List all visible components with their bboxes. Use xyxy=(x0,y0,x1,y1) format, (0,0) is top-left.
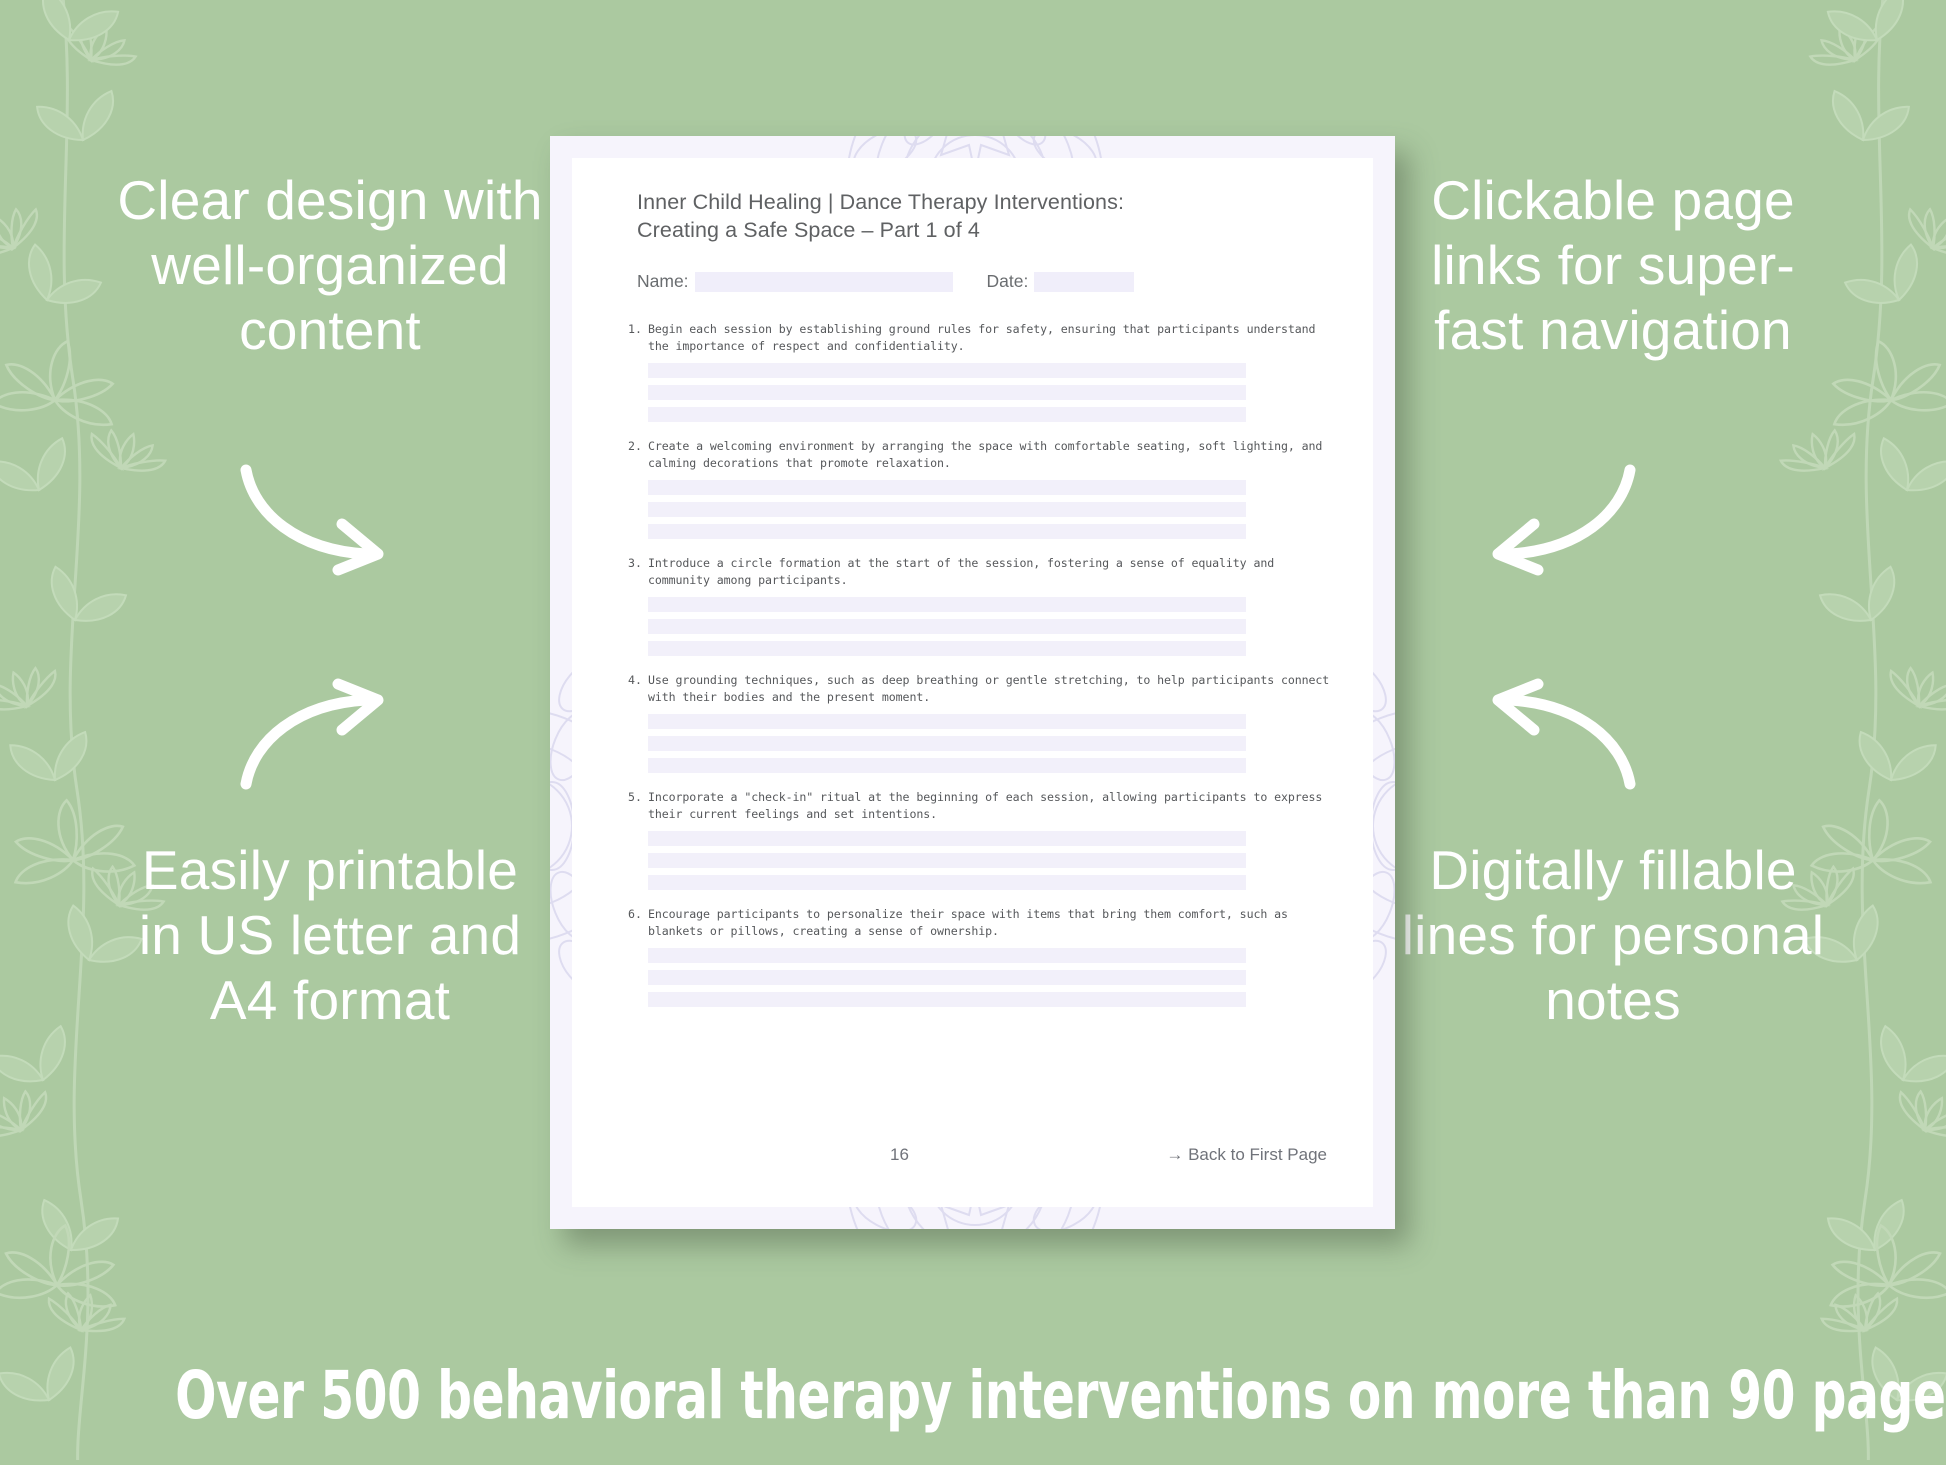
intervention-text: Encourage participants to personalize th… xyxy=(648,906,1332,940)
promo-text-top-right: Clickable page links for super-fast navi… xyxy=(1398,168,1828,363)
promo-text-top-left: Clear design with well-organized content xyxy=(115,168,545,363)
intervention-text: Introduce a circle formation at the star… xyxy=(648,555,1332,589)
fillable-line[interactable] xyxy=(648,875,1246,890)
fillable-line[interactable] xyxy=(648,970,1246,985)
fillable-lines-group xyxy=(648,714,1246,773)
fillable-line[interactable] xyxy=(648,480,1246,495)
fillable-line[interactable] xyxy=(648,736,1246,751)
page-title-line-1: Inner Child Healing | Dance Therapy Inte… xyxy=(637,188,1337,216)
worksheet-content-area: Inner Child Healing | Dance Therapy Inte… xyxy=(572,158,1373,1207)
page-title: Inner Child Healing | Dance Therapy Inte… xyxy=(637,188,1337,245)
name-input[interactable] xyxy=(695,272,953,292)
date-label: Date: xyxy=(987,271,1029,292)
intervention-row: 2.Create a welcoming environment by arra… xyxy=(620,438,1332,472)
intervention-item: 2.Create a welcoming environment by arra… xyxy=(620,438,1332,539)
intervention-number: 2. xyxy=(620,438,648,455)
fillable-line[interactable] xyxy=(648,502,1246,517)
fillable-line[interactable] xyxy=(648,948,1246,963)
fillable-line[interactable] xyxy=(648,524,1246,539)
fillable-line[interactable] xyxy=(648,758,1246,773)
intervention-row: 6.Encourage participants to personalize … xyxy=(620,906,1332,940)
page-number: 16 xyxy=(890,1145,909,1165)
intervention-list: 1.Begin each session by establishing gro… xyxy=(620,321,1332,1024)
fillable-line[interactable] xyxy=(648,363,1246,378)
intervention-number: 4. xyxy=(620,672,648,689)
fillable-line[interactable] xyxy=(648,385,1246,400)
name-label: Name: xyxy=(637,271,689,292)
fillable-lines-group xyxy=(648,597,1246,656)
fillable-line[interactable] xyxy=(648,641,1246,656)
promo-text-bottom-right: Digitally fillable lines for personal no… xyxy=(1398,838,1828,1033)
intervention-row: 3.Introduce a circle formation at the st… xyxy=(620,555,1332,589)
fillable-lines-group xyxy=(648,948,1246,1007)
name-date-row: Name: Date: xyxy=(637,271,1134,292)
fillable-line[interactable] xyxy=(648,597,1246,612)
curved-arrow-icon-top-left xyxy=(238,462,408,587)
intervention-item: 3.Introduce a circle formation at the st… xyxy=(620,555,1332,656)
intervention-number: 1. xyxy=(620,321,648,338)
intervention-number: 6. xyxy=(620,906,648,923)
intervention-row: 5.Incorporate a "check-in" ritual at the… xyxy=(620,789,1332,823)
intervention-item: 1.Begin each session by establishing gro… xyxy=(620,321,1332,422)
fillable-lines-group xyxy=(648,363,1246,422)
intervention-row: 1.Begin each session by establishing gro… xyxy=(620,321,1332,355)
fillable-line[interactable] xyxy=(648,992,1246,1007)
date-input[interactable] xyxy=(1034,272,1134,292)
intervention-item: 5.Incorporate a "check-in" ritual at the… xyxy=(620,789,1332,890)
fillable-line[interactable] xyxy=(648,831,1246,846)
back-to-first-page-link[interactable]: → Back to First Page xyxy=(1166,1145,1327,1165)
intervention-text: Incorporate a "check-in" ritual at the b… xyxy=(648,789,1332,823)
page-title-line-2: Creating a Safe Space – Part 1 of 4 xyxy=(637,216,1337,244)
curved-arrow-icon-bottom-left xyxy=(238,672,408,797)
curved-arrow-icon-bottom-right xyxy=(1468,672,1638,797)
fillable-line[interactable] xyxy=(648,853,1246,868)
curved-arrow-icon-top-right xyxy=(1468,462,1638,587)
intervention-number: 5. xyxy=(620,789,648,806)
fillable-line[interactable] xyxy=(648,714,1246,729)
promo-text-bottom-left: Easily printable in US letter and A4 for… xyxy=(115,838,545,1033)
intervention-text: Use grounding techniques, such as deep b… xyxy=(648,672,1332,706)
intervention-item: 4.Use grounding techniques, such as deep… xyxy=(620,672,1332,773)
fillable-lines-group xyxy=(648,480,1246,539)
intervention-row: 4.Use grounding techniques, such as deep… xyxy=(620,672,1332,706)
fillable-line[interactable] xyxy=(648,619,1246,634)
intervention-text: Begin each session by establishing groun… xyxy=(648,321,1332,355)
intervention-item: 6.Encourage participants to personalize … xyxy=(620,906,1332,1007)
promo-banner: Over 500 behavioral therapy intervention… xyxy=(175,1357,1771,1434)
intervention-number: 3. xyxy=(620,555,648,572)
intervention-text: Create a welcoming environment by arrang… xyxy=(648,438,1332,472)
fillable-lines-group xyxy=(648,831,1246,890)
fillable-line[interactable] xyxy=(648,407,1246,422)
worksheet-page: Inner Child Healing | Dance Therapy Inte… xyxy=(550,136,1395,1229)
